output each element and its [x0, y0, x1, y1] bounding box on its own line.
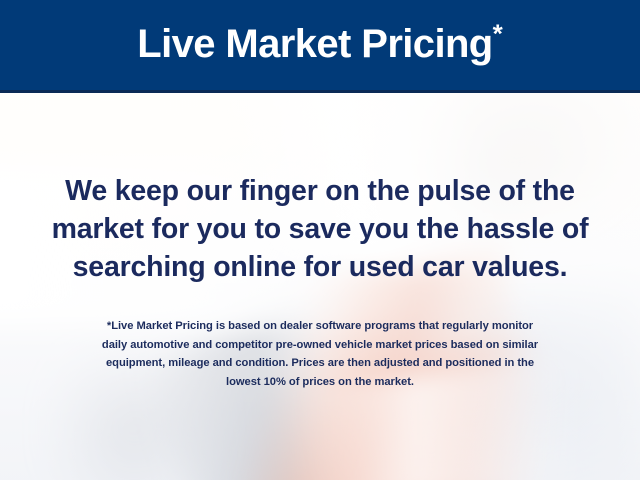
- headline-line: searching online for used car values.: [18, 248, 622, 286]
- page-title-asterisk: *: [493, 19, 503, 49]
- headline: We keep our finger on the pulse of the m…: [18, 172, 622, 286]
- disclaimer-line: daily automotive and competitor pre-owne…: [24, 336, 616, 355]
- disclaimer-line: equipment, mileage and condition. Prices…: [24, 354, 616, 373]
- header-bar: Live Market Pricing*: [0, 0, 640, 93]
- live-market-pricing-banner: Live Market Pricing* We keep our finger …: [0, 0, 640, 480]
- headline-line: market for you to save you the hassle of: [18, 210, 622, 248]
- disclaimer-line: lowest 10% of prices on the market.: [24, 373, 616, 392]
- disclaimer-line: *Live Market Pricing is based on dealer …: [24, 317, 616, 336]
- page-title-text: Live Market Pricing: [137, 22, 492, 66]
- disclaimer-text: *Live Market Pricing is based on dealer …: [24, 317, 616, 391]
- content-area: We keep our finger on the pulse of the m…: [0, 93, 640, 480]
- page-title: Live Market Pricing*: [137, 24, 503, 64]
- headline-line: We keep our finger on the pulse of the: [18, 172, 622, 210]
